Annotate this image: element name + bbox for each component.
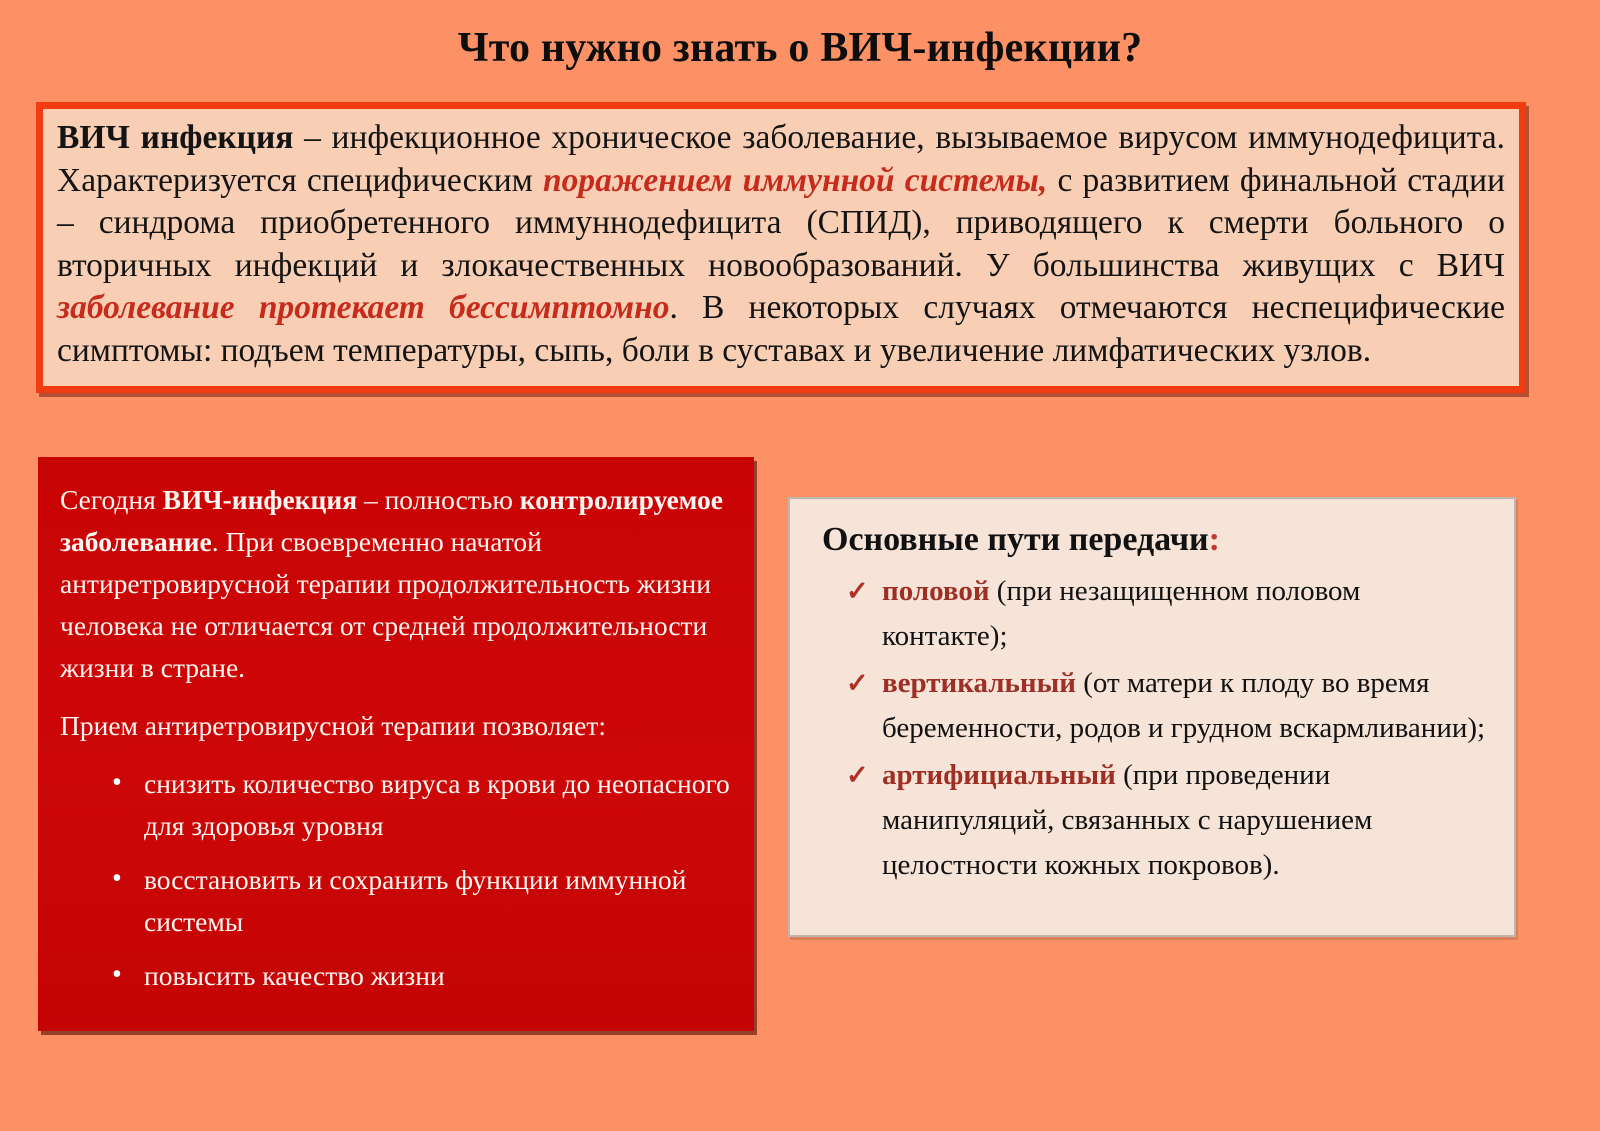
transmission-heading-colon: : <box>1209 521 1220 558</box>
page-title: Что нужно знать о ВИЧ-инфекции? <box>0 24 1600 72</box>
transmission-term: артифициальный <box>882 759 1116 791</box>
check-icon: ✓ <box>846 569 869 614</box>
transmission-term: половой <box>882 575 990 607</box>
list-item: восстановить и сохранить функции иммунно… <box>112 859 730 943</box>
list-item: снизить количество вируса в крови до нео… <box>112 763 730 847</box>
therapy-benefits-list: снизить количество вируса в крови до нео… <box>60 763 730 997</box>
list-item: ✓артифициальный (при проведении манипуля… <box>846 753 1492 888</box>
therapy-intro-middle: – полностью <box>357 484 520 515</box>
list-item: ✓вертикальный (от матери к плоду во врем… <box>846 661 1492 751</box>
check-icon: ✓ <box>846 661 869 706</box>
transmission-routes-list: ✓половой (при незащищенном половом конта… <box>808 569 1492 888</box>
definition-lead-term: ВИЧ инфекция <box>57 119 293 156</box>
therapy-list-heading: Прием антиретровирусной терапии позволяе… <box>60 705 730 747</box>
therapy-intro-paragraph: Сегодня ВИЧ-инфекция – полностью контрол… <box>60 479 730 689</box>
list-item: ✓половой (при незащищенном половом конта… <box>846 569 1492 659</box>
transmission-panel: Основные пути передачи: ✓половой (при не… <box>788 497 1516 937</box>
therapy-panel: Сегодня ВИЧ-инфекция – полностью контрол… <box>38 457 754 1031</box>
transmission-heading-text: Основные пути передачи <box>822 521 1209 558</box>
definition-panel: ВИЧ инфекция – инфекционное хроническое … <box>36 102 1526 393</box>
transmission-heading: Основные пути передачи: <box>822 521 1492 559</box>
definition-text: ВИЧ инфекция – инфекционное хроническое … <box>57 117 1505 372</box>
therapy-term-hiv: ВИЧ-инфекция <box>163 484 357 515</box>
definition-highlight-2: заболевание протекает бессимптомно <box>57 289 669 326</box>
definition-highlight-1: поражением иммунной системы, <box>543 162 1047 199</box>
check-icon: ✓ <box>846 753 869 798</box>
list-item: повысить качество жизни <box>112 955 730 997</box>
transmission-term: вертикальный <box>882 667 1076 699</box>
therapy-intro-prefix: Сегодня <box>60 484 163 515</box>
